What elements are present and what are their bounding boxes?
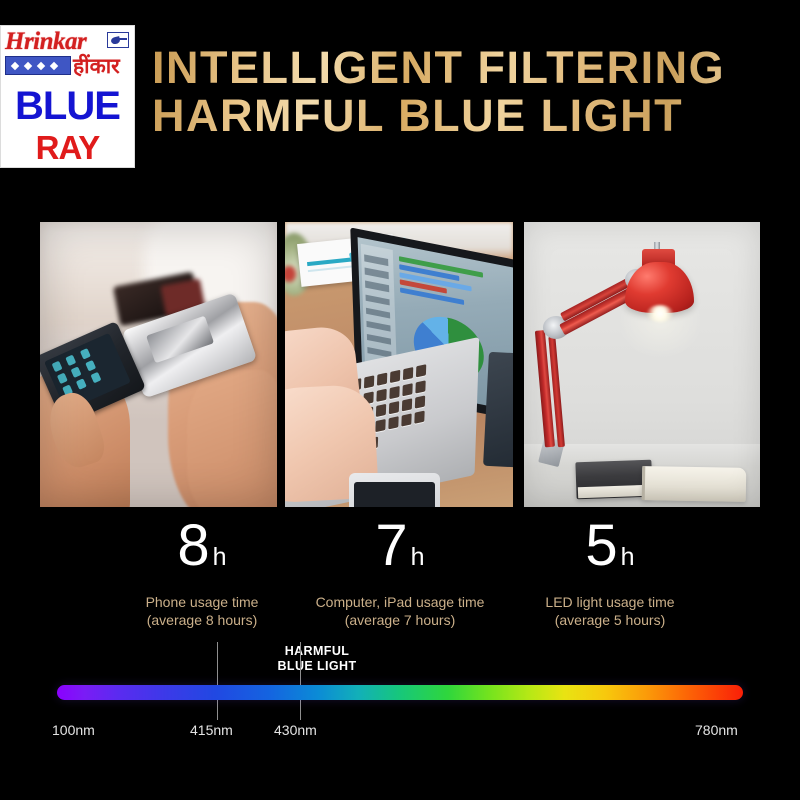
stat-value-led: 5h [490, 516, 730, 587]
stat-title-led: LED light usage time [490, 593, 730, 611]
stat-subtitle-led: (average 5 hours) [490, 611, 730, 629]
spectrum-tick-labels: 100nm 415nm 430nm 780nm [40, 722, 760, 744]
tick-100nm: 100nm [52, 722, 95, 738]
stat-caption-led: LED light usage time (average 5 hours) [490, 593, 730, 629]
usage-stats-group: 8h Phone usage time (average 8 hours) 7h… [40, 516, 760, 628]
stat-number-computer: 7 [375, 513, 407, 578]
brand-name-hindi: हींकार [73, 52, 120, 80]
stat-value-computer: 7h [280, 516, 520, 587]
marker-line-415nm [217, 642, 218, 720]
light-spectrum-diagram: HARMFUL BLUE LIGHT 100nm 415nm 430nm 780… [40, 640, 760, 755]
photo-panel-group [40, 222, 760, 507]
tick-430nm: 430nm [274, 722, 317, 738]
photo-computer-usage [285, 222, 513, 507]
brand-word-raycut: RAY CUT [1, 130, 134, 168]
spectrum-gradient-bar [57, 685, 743, 700]
stat-computer-usage: 7h Computer, iPad usage time (average 7 … [280, 516, 520, 629]
stat-caption-computer: Computer, iPad usage time (average 7 hou… [280, 593, 520, 629]
stat-unit-phone: h [213, 543, 227, 571]
tick-780nm: 780nm [695, 722, 738, 738]
stat-unit-computer: h [411, 543, 425, 571]
stat-number-phone: 8 [177, 513, 209, 578]
stat-number-led: 5 [585, 513, 617, 578]
stat-led-usage: 5h LED light usage time (average 5 hours… [490, 516, 730, 629]
stat-title-computer: Computer, iPad usage time [280, 593, 520, 611]
logo-decorative-strip [5, 56, 71, 75]
stat-subtitle-computer: (average 7 hours) [280, 611, 520, 629]
logo-top-row: Hrinkar हींकार [1, 26, 134, 84]
photo-led-light-usage [524, 222, 760, 507]
bird-badge-icon [107, 32, 129, 48]
brand-word-blue: BLUE [1, 84, 134, 128]
brand-logo: Hrinkar हींकार BLUE RAY CUT [0, 25, 135, 168]
page-title: INTELLIGENT FILTERING HARMFUL BLUE LIGHT [152, 44, 792, 140]
photo-phone-usage [40, 222, 277, 507]
stat-unit-led: h [621, 543, 635, 571]
marker-line-430nm [300, 642, 301, 720]
tick-415nm: 415nm [190, 722, 233, 738]
harmful-blue-light-label: HARMFUL BLUE LIGHT [262, 644, 372, 674]
